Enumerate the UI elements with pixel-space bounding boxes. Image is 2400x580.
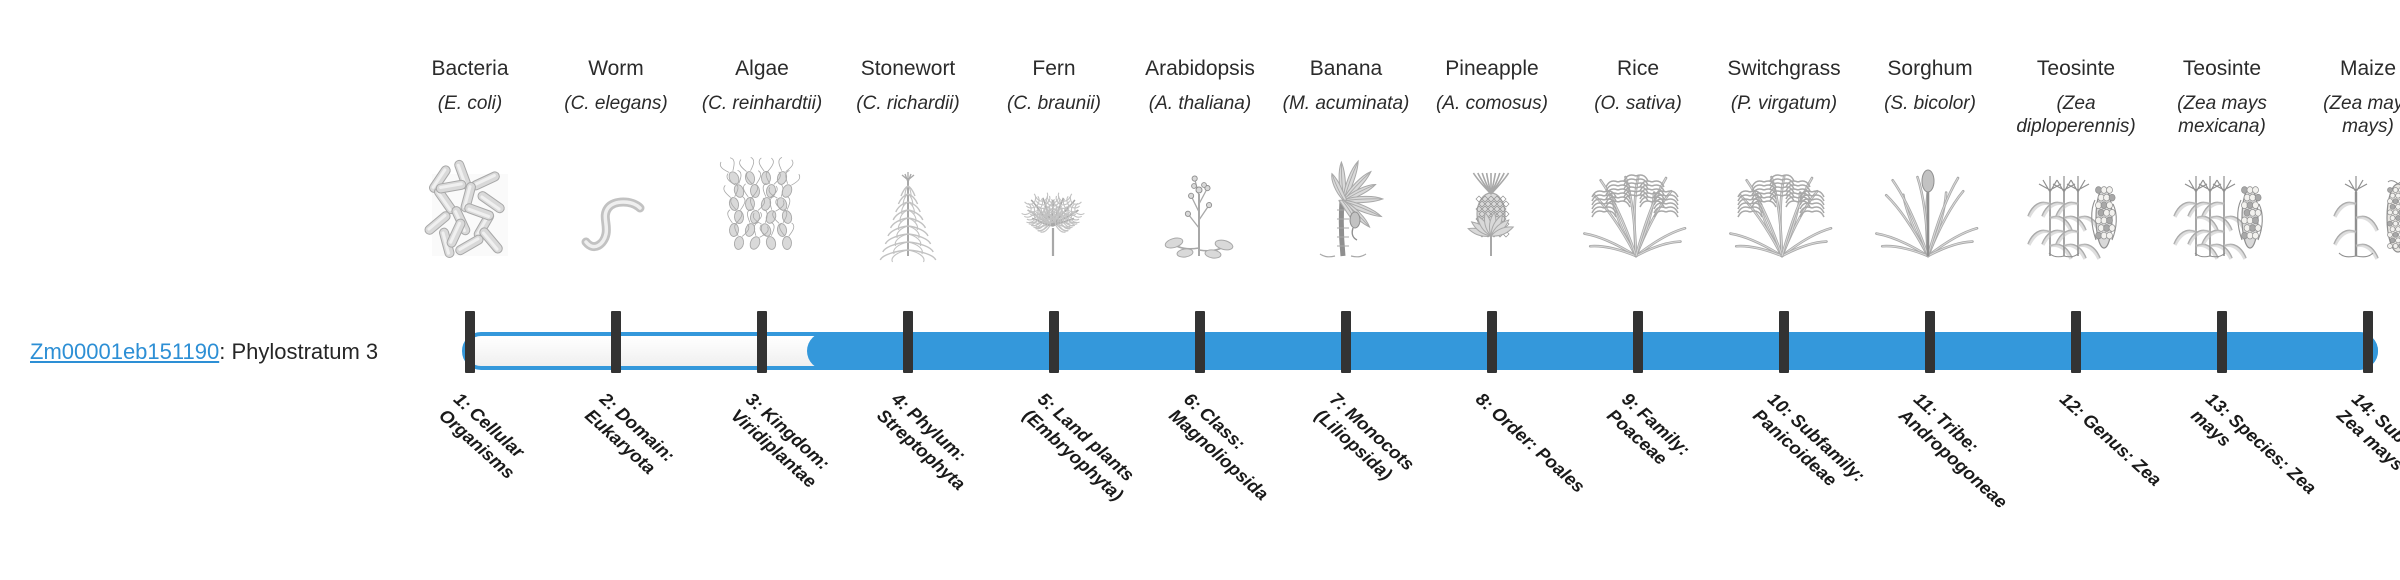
species-common-name: Pineapple [1424,57,1560,81]
progress-fill [807,332,2378,370]
species-scientific-name: (P. virgatum) [1712,92,1856,115]
stratum-tick [465,311,475,373]
species-scientific-name: (E. coli) [398,92,542,115]
species-scientific-name: (Zea mays mexicana) [2150,92,2294,138]
species-common-name: Bacteria [402,57,538,81]
species-common-name: Teosinte [2154,57,2290,81]
stratum-tick [2363,311,2373,373]
arabidopsis-icon [1132,170,1268,258]
gene-phylostratum-label: Zm00001eb151190: Phylostratum 3 [30,338,378,366]
species-common-name: Teosinte [2008,57,2144,81]
species-scientific-name: (A. thaliana) [1128,92,1272,115]
phylostratum-column: Algae (C. reinhardtii) [694,0,830,580]
species-scientific-name: (A. comosus) [1420,92,1564,115]
species-common-name: Maize [2300,57,2400,81]
stratum-tick [611,311,621,373]
stratum-tick [757,311,767,373]
phylostratum-track: Bacteria (E. coli) [470,0,2368,580]
phylostratum-column: Sorghum (S. bicolor) [1862,0,1998,580]
species-scientific-name: (C. richardii) [836,92,980,115]
pineapple-icon [1424,170,1560,258]
species-scientific-name: (Zea mays mays) [2296,92,2400,138]
stratum-tick [1341,311,1351,373]
species-common-name: Arabidopsis [1132,57,1268,81]
fern-icon [986,170,1122,258]
phylostratum-column: Bacteria (E. coli) [402,0,538,580]
stratum-tick [1049,311,1059,373]
sorghum-icon [1862,170,1998,258]
species-scientific-name: (S. bicolor) [1858,92,2002,115]
stratum-tick [1487,311,1497,373]
gene-label-separator: : [219,339,231,364]
banana-icon [1278,170,1414,258]
maize-icon [2300,170,2400,258]
species-scientific-name: (Zea diploperennis) [2004,92,2148,138]
stratum-tick [2071,311,2081,373]
algae-icon [694,170,830,258]
species-common-name: Worm [548,57,684,81]
phylostratum-column: Teosinte (Zea mays mexicana) [2154,0,2290,580]
stratum-tick [1195,311,1205,373]
taxonomy-rank-label: 14: Subspecies: Zea mays mays [2333,388,2400,521]
stratum-tick [2217,311,2227,373]
phylostratum-column: Stonewort (C. richardii) [840,0,976,580]
species-common-name: Sorghum [1862,57,1998,81]
phylostratum-column: Worm (C. elegans) 2: Domain: Eukaryota [548,0,684,580]
phylostratum-column: Maize (Zea mays mays) 14: Subspecies: Ze… [2300,0,2400,580]
phylostratum-column: Banana (M. acuminata) [1278,0,1414,580]
species-common-name: Switchgrass [1716,57,1852,81]
phylostratum-column: Arabidopsis (A. thaliana) [1132,0,1268,580]
bacteria-icon [402,170,538,258]
species-common-name: Banana [1278,57,1414,81]
stratum-tick [1779,311,1789,373]
phylostratum-column: Rice (O. sativa) [1570,0,1706,580]
phylostratum-column: Switchgrass (P. virgatum) [1716,0,1852,580]
species-scientific-name: (M. acuminata) [1274,92,1418,115]
stratum-tick [1925,311,1935,373]
gene-id-link[interactable]: Zm00001eb151190 [30,339,219,364]
species-common-name: Fern [986,57,1122,81]
teosinte-icon [2008,170,2144,258]
species-scientific-name: (C. reinhardtii) [690,92,834,115]
phylostratum-progress-bar[interactable] [462,332,2378,370]
species-common-name: Algae [694,57,830,81]
stratum-tick [1633,311,1643,373]
phylostratum-column: Pineapple (A. comosus) [1424,0,1560,580]
phylostratum-column: Fern (C. braunii) [986,0,1122,580]
phylostratum-column: Teosinte (Zea diploperennis) [2008,0,2144,580]
species-scientific-name: (C. elegans) [544,92,688,115]
stonewort-icon [840,170,976,258]
phylostratum-figure: Zm00001eb151190: Phylostratum 3 Bacteria… [0,0,2400,580]
species-common-name: Rice [1570,57,1706,81]
species-scientific-name: (O. sativa) [1566,92,1710,115]
species-scientific-name: (C. braunii) [982,92,1126,115]
rice-icon [1570,170,1706,258]
species-common-name: Stonewort [840,57,976,81]
worm-icon [548,170,684,258]
switchgrass-icon [1716,170,1852,258]
stratum-tick [903,311,913,373]
teosinte-icon [2154,170,2290,258]
phylostratum-value: Phylostratum 3 [231,339,378,364]
